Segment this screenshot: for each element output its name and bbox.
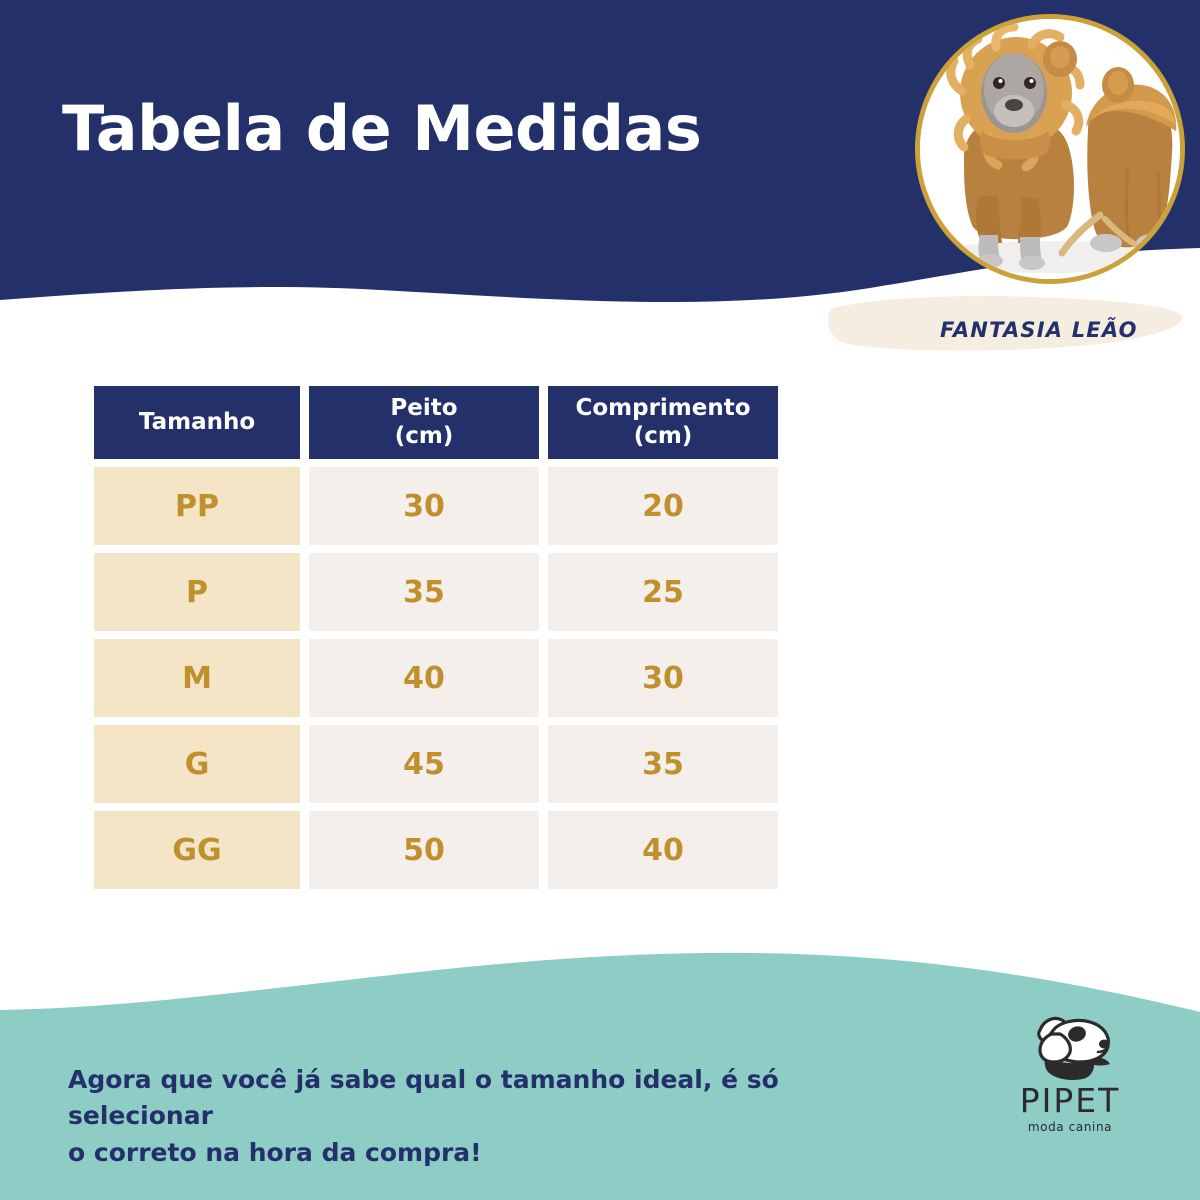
cell-size: G	[94, 725, 300, 803]
brand-name: PIPET	[1000, 1084, 1140, 1117]
table-header-row: Tamanho Peito (cm) Comprimento (cm)	[94, 386, 778, 459]
cell-length: 35	[548, 725, 778, 803]
dog-head-icon	[1022, 1012, 1118, 1082]
column-header-length-label: Comprimento	[575, 395, 750, 421]
cell-chest: 30	[309, 467, 539, 545]
column-header-length-unit: (cm)	[548, 423, 778, 450]
brand-logo: PIPET moda canina	[1000, 1012, 1140, 1152]
brand-tagline: moda canina	[1000, 1121, 1140, 1133]
cell-length: 25	[548, 553, 778, 631]
column-header-chest-label: Peito	[390, 395, 457, 421]
cell-chest: 35	[309, 553, 539, 631]
column-header-size-label: Tamanho	[139, 409, 255, 435]
cell-size: M	[94, 639, 300, 717]
cell-size: P	[94, 553, 300, 631]
table-header: Tamanho Peito (cm) Comprimento (cm)	[94, 386, 778, 459]
size-chart-page: Tabela de Medidas	[0, 0, 1200, 1200]
table-row: PP 30 20	[94, 467, 778, 545]
size-table: Tamanho Peito (cm) Comprimento (cm) PP 3…	[85, 378, 787, 897]
cell-length: 20	[548, 467, 778, 545]
table-row: G 45 35	[94, 725, 778, 803]
table-body: PP 30 20 P 35 25 M 40 30 G 45 35 GG 50	[94, 467, 778, 889]
cell-chest: 45	[309, 725, 539, 803]
cell-chest: 40	[309, 639, 539, 717]
footer-message-line1: Agora que você já sabe qual o tamanho id…	[68, 1062, 928, 1135]
page-title: Tabela de Medidas	[62, 92, 701, 165]
dog-lion-costume-illustration	[920, 19, 1180, 279]
footer-message: Agora que você já sabe qual o tamanho id…	[68, 1062, 928, 1171]
column-header-length: Comprimento (cm)	[548, 386, 778, 459]
column-header-size: Tamanho	[94, 386, 300, 459]
cell-length: 40	[548, 811, 778, 889]
cell-size: GG	[94, 811, 300, 889]
product-caption: FANTASIA LEÃO	[940, 318, 1138, 342]
cell-chest: 50	[309, 811, 539, 889]
footer-message-line2: o correto na hora da compra!	[68, 1135, 928, 1171]
table-row: GG 50 40	[94, 811, 778, 889]
product-photo	[915, 14, 1185, 284]
column-header-chest-unit: (cm)	[309, 423, 539, 450]
table-row: P 35 25	[94, 553, 778, 631]
cell-size: PP	[94, 467, 300, 545]
column-header-chest: Peito (cm)	[309, 386, 539, 459]
cell-length: 30	[548, 639, 778, 717]
table-row: M 40 30	[94, 639, 778, 717]
